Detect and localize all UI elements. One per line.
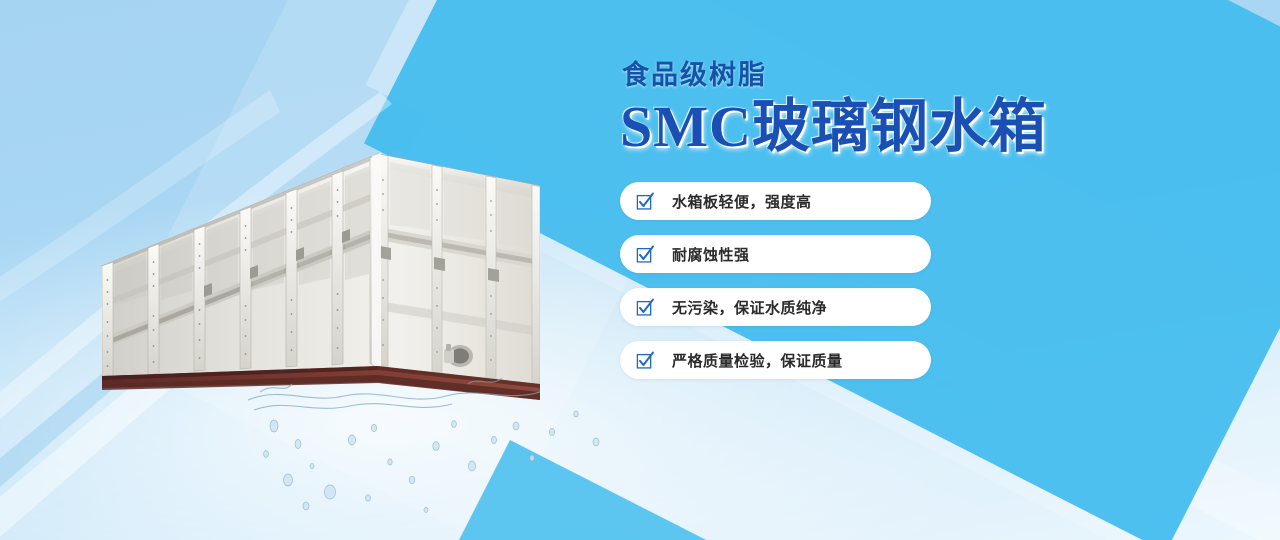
background-band-cyan-bottomright (315, 440, 1280, 540)
feature-label: 耐腐蚀性强 (672, 244, 750, 265)
feature-item-3[interactable]: 无污染，保证水质纯净 (620, 288, 931, 326)
banner-eyebrow: 食品级树脂 (620, 60, 1140, 91)
checkbox-checked-icon (636, 245, 655, 264)
checkbox-checked-icon (636, 351, 655, 370)
feature-item-1[interactable]: 水箱板轻便，强度高 (620, 182, 931, 220)
feature-label: 水箱板轻便，强度高 (672, 191, 812, 212)
water-tank-illustration (88, 70, 558, 430)
banner-content: 食品级树脂 SMC玻璃钢水箱 水箱板轻便，强度高 耐腐蚀性强 (620, 60, 1140, 379)
product-banner: 食品级树脂 SMC玻璃钢水箱 水箱板轻便，强度高 耐腐蚀性强 (0, 0, 1280, 540)
feature-label: 无污染，保证水质纯净 (672, 297, 827, 318)
feature-item-2[interactable]: 耐腐蚀性强 (620, 235, 931, 273)
feature-label: 严格质量检验，保证质量 (672, 350, 843, 371)
feature-list: 水箱板轻便，强度高 耐腐蚀性强 无污染，保证水质纯净 (620, 182, 1140, 379)
page-title: SMC玻璃钢水箱 (620, 95, 1140, 160)
checkbox-checked-icon (636, 298, 655, 317)
checkbox-checked-icon (636, 192, 655, 211)
product-image (88, 70, 558, 430)
feature-item-4[interactable]: 严格质量检验，保证质量 (620, 341, 931, 379)
